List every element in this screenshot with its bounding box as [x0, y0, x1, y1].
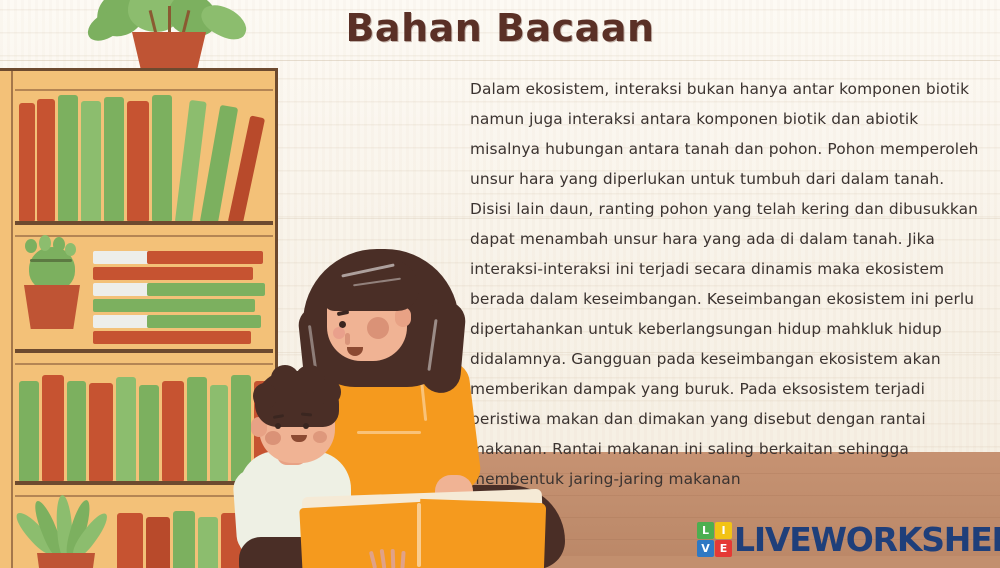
shelf-edge [15, 235, 273, 237]
book-spine [89, 383, 113, 481]
book-stacked [93, 331, 251, 344]
shelf-edge [15, 363, 273, 365]
cactus-line [30, 259, 72, 262]
cactus-spine [39, 235, 51, 251]
book-spine [19, 103, 35, 221]
people-illustration [245, 255, 585, 568]
woman-nose [345, 333, 350, 345]
boy-blush [265, 431, 281, 445]
cactus-spine [25, 239, 37, 253]
liveworksheets-logo[interactable]: L I V E LIVEWORKSHEETS [697, 522, 1000, 557]
sweater-fold [357, 431, 421, 434]
cactus-spine [65, 243, 76, 256]
badge-letter-i: I [715, 522, 732, 539]
book-spine [210, 385, 228, 481]
boy-hair-curl [317, 379, 341, 405]
book-stacked-cap [147, 315, 261, 328]
woman-cheek-blush [367, 317, 389, 339]
cactus-spine [53, 237, 65, 252]
boy-blush [313, 431, 327, 443]
book-spine [173, 511, 195, 568]
badge-letter-v: V [697, 540, 714, 557]
boy-eye [275, 423, 281, 429]
badge-letter-l: L [697, 522, 714, 539]
shelf-row-1 [19, 93, 243, 221]
badge-letter-e: E [715, 540, 732, 557]
woman-blush [333, 327, 345, 339]
bookcase-frame-line [11, 71, 13, 568]
book-spine [104, 97, 124, 221]
aloe-pot [37, 553, 95, 568]
book-spine [37, 99, 55, 221]
cactus-pot [24, 285, 80, 329]
shelf-board [15, 221, 273, 225]
liveworksheets-badge-icon: L I V E [697, 522, 732, 557]
book-spine [139, 385, 159, 481]
book-spine [127, 101, 149, 221]
woman-hair-fringe [323, 259, 419, 311]
page-title: Bahan Bacaan [300, 6, 700, 50]
book-spine [117, 513, 143, 568]
book-spine [58, 95, 78, 221]
shelf-row-3 [19, 371, 276, 481]
finger [391, 549, 396, 568]
liveworksheets-wordmark: LIVEWORKSHEETS [734, 523, 1000, 556]
book-spine [198, 517, 218, 568]
book-spine [42, 375, 64, 481]
book-spine [146, 517, 170, 568]
book-spine [152, 95, 172, 221]
book-spine [187, 377, 207, 481]
boy-eye [303, 423, 309, 429]
shelf-board [15, 349, 273, 353]
book-spine [19, 381, 39, 481]
shelf-edge [15, 89, 273, 91]
book-spine [67, 381, 86, 481]
book-spine-crease [417, 503, 421, 567]
book-spine [81, 101, 101, 221]
book-spine [162, 381, 184, 481]
open-book-right-cover [418, 499, 546, 568]
book-spine [116, 377, 136, 481]
open-book-left-cover [299, 502, 426, 568]
boy-hair-curl [253, 383, 277, 409]
worksheet-page: Bahan Bacaan Dalam ekosistem, interaksi … [0, 0, 1000, 568]
